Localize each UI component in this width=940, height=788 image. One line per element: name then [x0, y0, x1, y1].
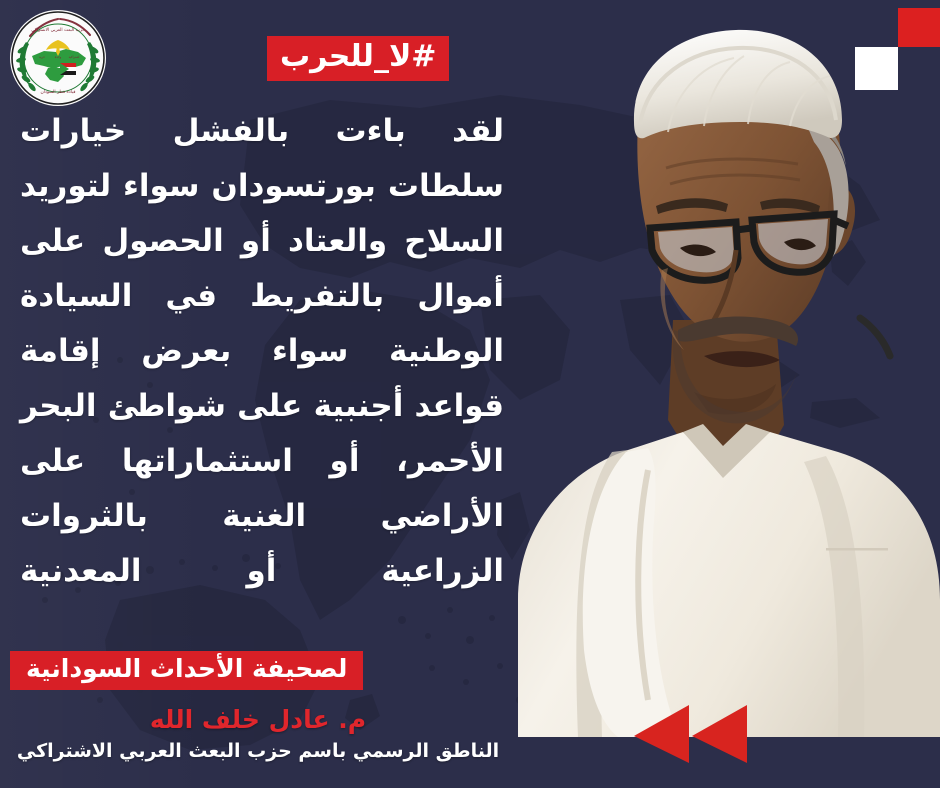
svg-text:قيادة قطر السودان: قيادة قطر السودان	[40, 90, 75, 95]
poster-canvas: حزب البعث العربي الاشتراكي قيادة قطر الس…	[0, 0, 940, 788]
rewind-icon[interactable]	[633, 705, 749, 763]
svg-text:وحدة: وحدة	[55, 55, 62, 59]
svg-text:حزب البعث العربي الاشتراكي: حزب البعث العربي الاشتراكي	[31, 27, 85, 33]
party-logo: حزب البعث العربي الاشتراكي قيادة قطر الس…	[8, 8, 108, 108]
speaker-attribution: م. عادل خلف الله الناطق الرسمي باسم حزب …	[0, 706, 516, 763]
speaker-name: م. عادل خلف الله	[0, 706, 516, 735]
quote-paragraph: لقد باءت بالفشل خيارات سلطات بورتسودان س…	[20, 104, 504, 599]
decorative-white-square	[855, 47, 898, 90]
decorative-red-square	[898, 8, 940, 47]
speaker-title: الناطق الرسمي باسم حزب البعث العربي الاش…	[0, 739, 516, 764]
svg-text:حرية: حرية	[39, 55, 45, 59]
quote-text: لقد باءت بالفشل خيارات سلطات بورتسودان س…	[8, 104, 516, 599]
svg-text:اشتراكية: اشتراكية	[69, 55, 80, 59]
hashtag-banner[interactable]: #لا_للحرب	[267, 36, 449, 81]
speaker-portrait-photo	[508, 0, 940, 737]
source-badge: لصحيفة الأحداث السودانية	[10, 651, 363, 690]
